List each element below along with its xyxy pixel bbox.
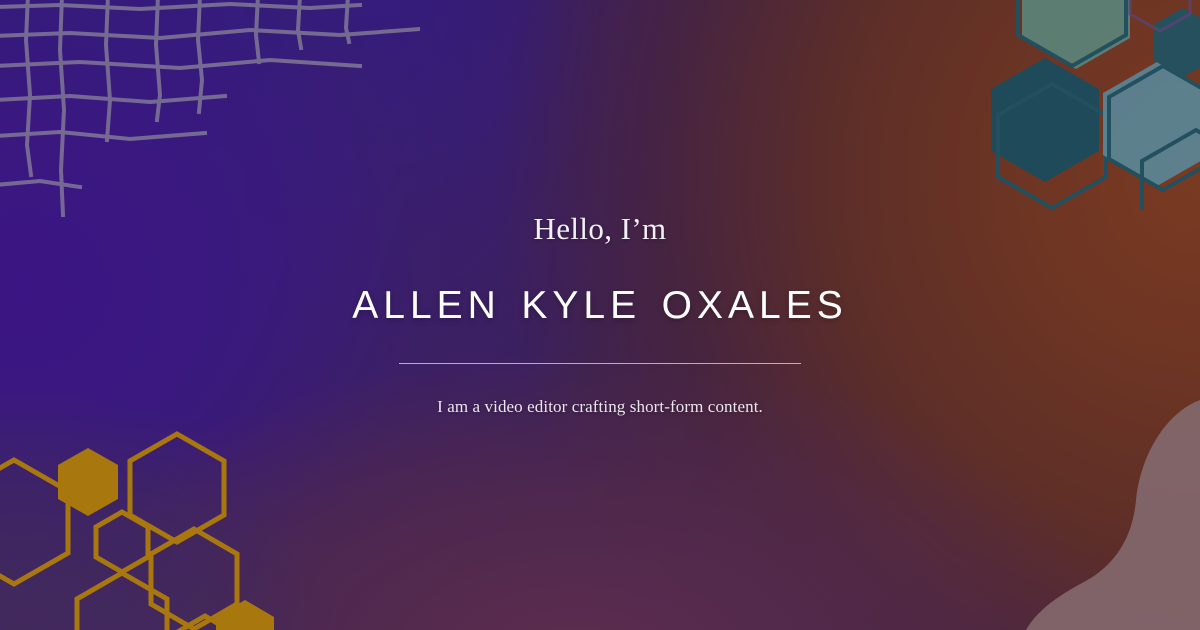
greeting-text: Hello, I’m bbox=[533, 213, 666, 244]
hero-banner: Hello, I’m Allen Kyle Oxales I am a vide… bbox=[0, 0, 1200, 630]
page-title: Allen Kyle Oxales bbox=[352, 270, 848, 328]
tagline-text: I am a video editor crafting short-form … bbox=[437, 397, 763, 417]
hero-content: Hello, I’m Allen Kyle Oxales I am a vide… bbox=[0, 0, 1200, 630]
title-divider bbox=[399, 363, 801, 364]
